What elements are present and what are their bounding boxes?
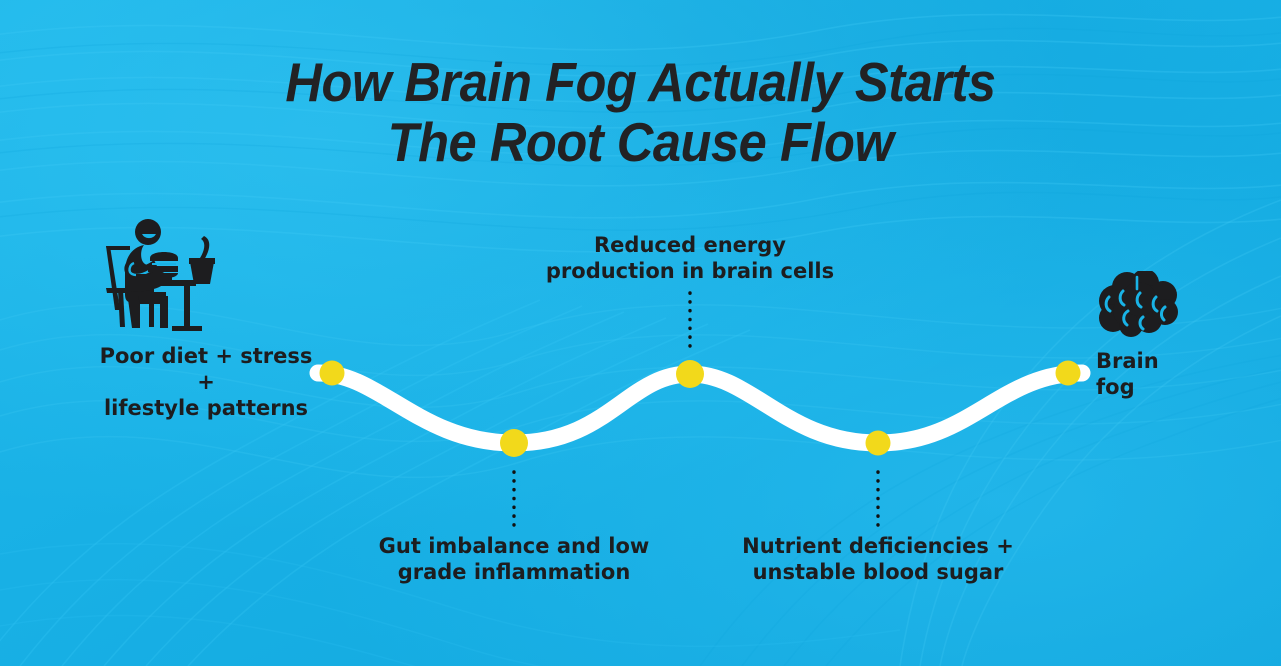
title-line-1: How Brain Fog Actually Starts [51,52,1230,112]
flow-label-2: Gut imbalance and low grade inflammation [364,533,664,585]
flow-label-5: Brain fog [1096,348,1246,400]
flow-node-2[interactable] [500,429,528,457]
flow-node-4[interactable] [866,431,891,456]
flow-label-1: Poor diet + stress + lifestyle patterns [91,343,321,421]
brain-icon [1093,271,1185,344]
flow-node-3[interactable] [676,360,704,388]
page-title: How Brain Fog Actually Starts The Root C… [0,52,1281,172]
flow-label-3: Reduced energy production in brain cells [530,232,850,284]
person-eating-fast-food-icon [100,214,220,339]
infographic-canvas: How Brain Fog Actually Starts The Root C… [0,0,1281,666]
title-line-2: The Root Cause Flow [51,112,1230,172]
connector-lines [514,288,878,533]
flow-node-5[interactable] [1056,361,1081,386]
flow-node-1[interactable] [320,361,345,386]
flow-label-4: Nutrient deficiencies + unstable blood s… [728,533,1028,585]
